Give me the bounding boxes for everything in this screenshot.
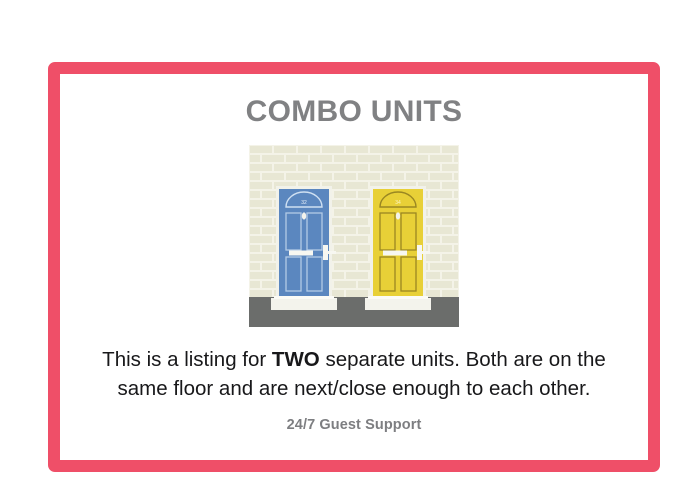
door-left-blue[interactable]: 32 [271, 186, 337, 310]
door-left-letterbox [289, 251, 313, 256]
door-left-handle-lever[interactable] [323, 251, 336, 254]
two-front-doors-illustration: 32 [249, 145, 459, 327]
body-text-part-1: This is a listing for [102, 348, 272, 371]
door-left-number: 32 [301, 200, 307, 206]
door-right-step [365, 298, 431, 310]
door-right-yellow[interactable]: 34 [365, 186, 431, 310]
page-title: COMBO UNITS [246, 97, 463, 127]
door-right-handle-lever[interactable] [417, 251, 430, 254]
combo-units-card: COMBO UNITS [48, 62, 660, 472]
body-text-emphasis: TWO [272, 348, 320, 371]
card-inner: COMBO UNITS [60, 74, 648, 460]
door-left-step [271, 298, 337, 310]
body-text: This is a listing for TWO separate units… [82, 345, 627, 403]
door-right-threshold [368, 296, 428, 299]
door-right-letterbox [383, 251, 407, 256]
door-left-threshold [274, 296, 334, 299]
door-right-knocker-icon [396, 212, 400, 219]
door-left-knocker-icon [302, 212, 306, 219]
door-right-number: 34 [395, 200, 401, 206]
support-text: 24/7 Guest Support [287, 417, 422, 433]
